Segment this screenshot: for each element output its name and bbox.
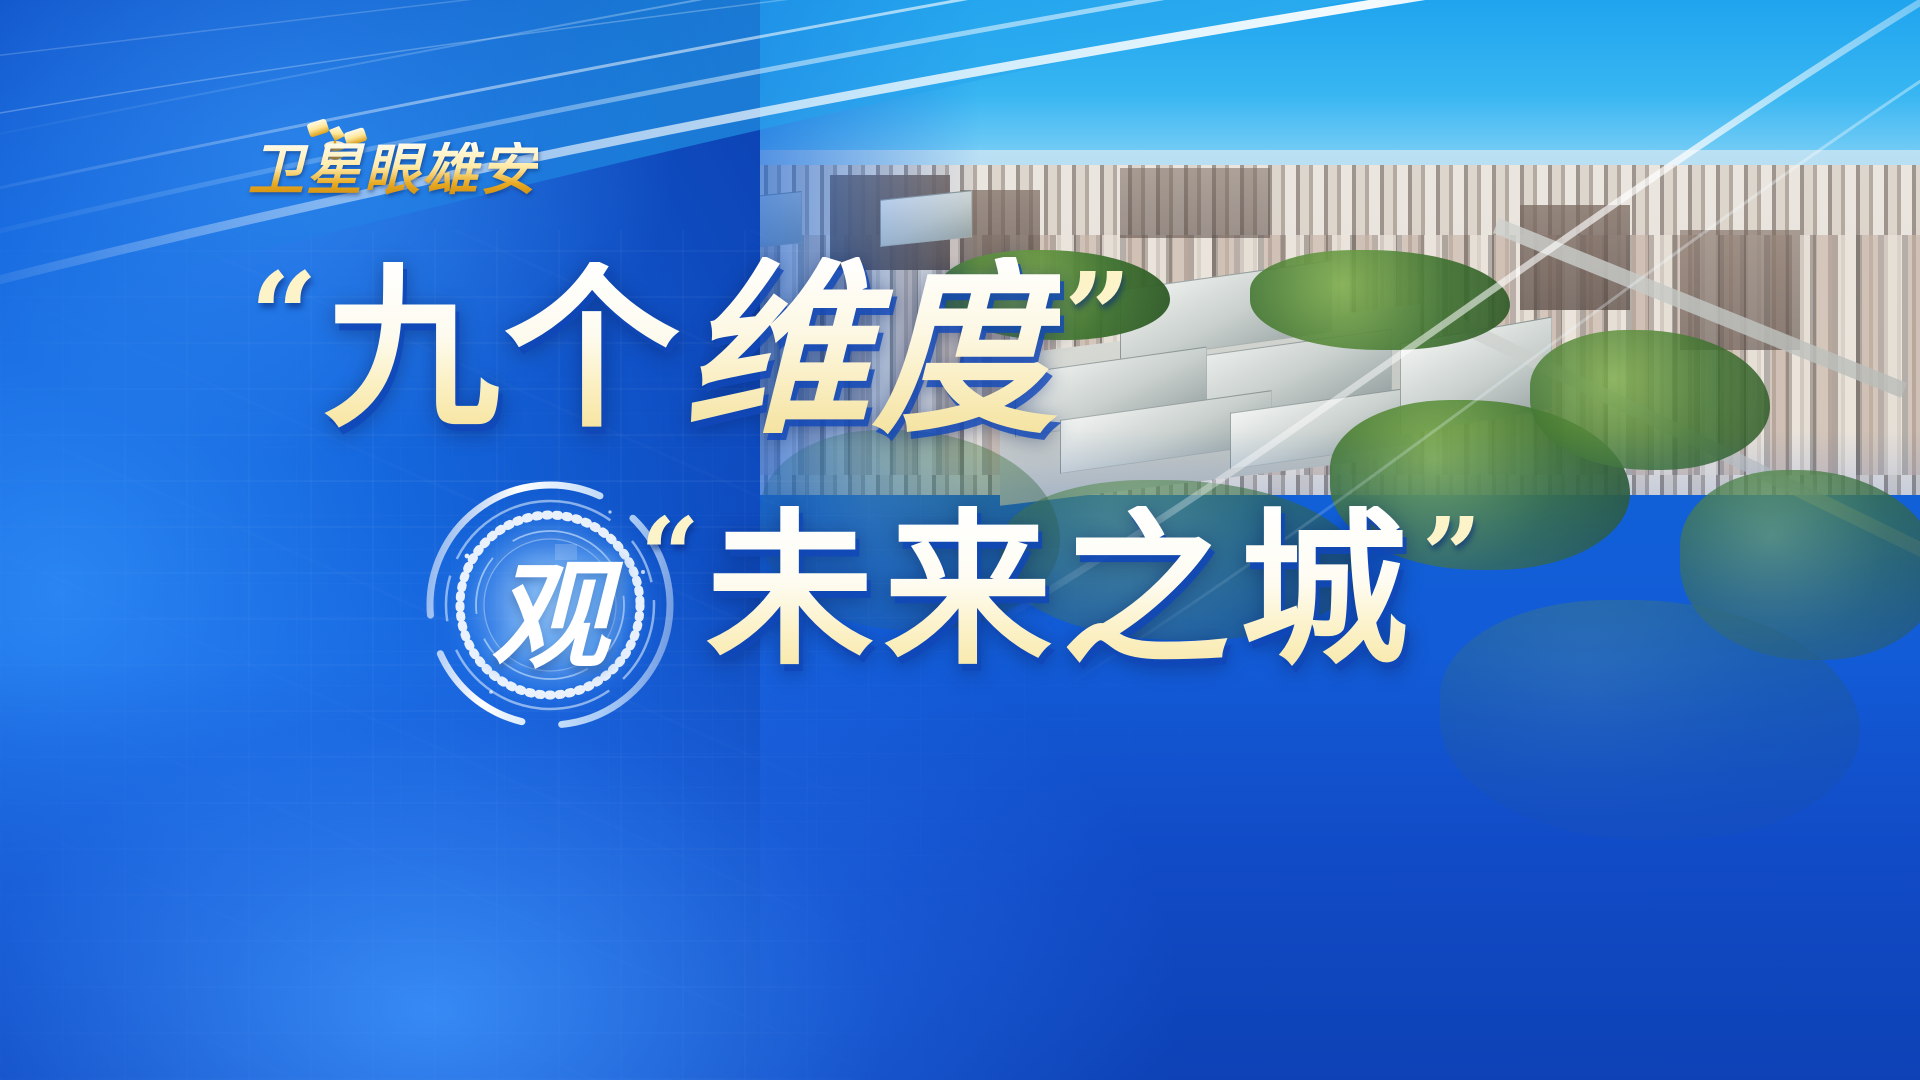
close-quote-1: ”: [1064, 269, 1132, 363]
banner-root: 卫星眼雄安 “ 九个 维度 ”: [0, 0, 1920, 1080]
logo[interactable]: 卫星眼雄安: [248, 120, 548, 212]
open-quote-2: “: [640, 514, 700, 597]
close-quote-2: ”: [1422, 514, 1482, 597]
headline-line-1: “ 九个 维度 ”: [250, 245, 1132, 455]
headline-line-2: “ 未来之城 ”: [640, 490, 1482, 690]
highrise-block: [1120, 168, 1270, 238]
open-quote-1: “: [250, 269, 318, 363]
headline-1-bold: 九个: [324, 262, 684, 438]
headline-1-brush: 维度: [684, 257, 1060, 443]
headline-2-text: 未来之城: [706, 506, 1418, 674]
logo-text: 卫星眼雄安: [248, 142, 538, 198]
